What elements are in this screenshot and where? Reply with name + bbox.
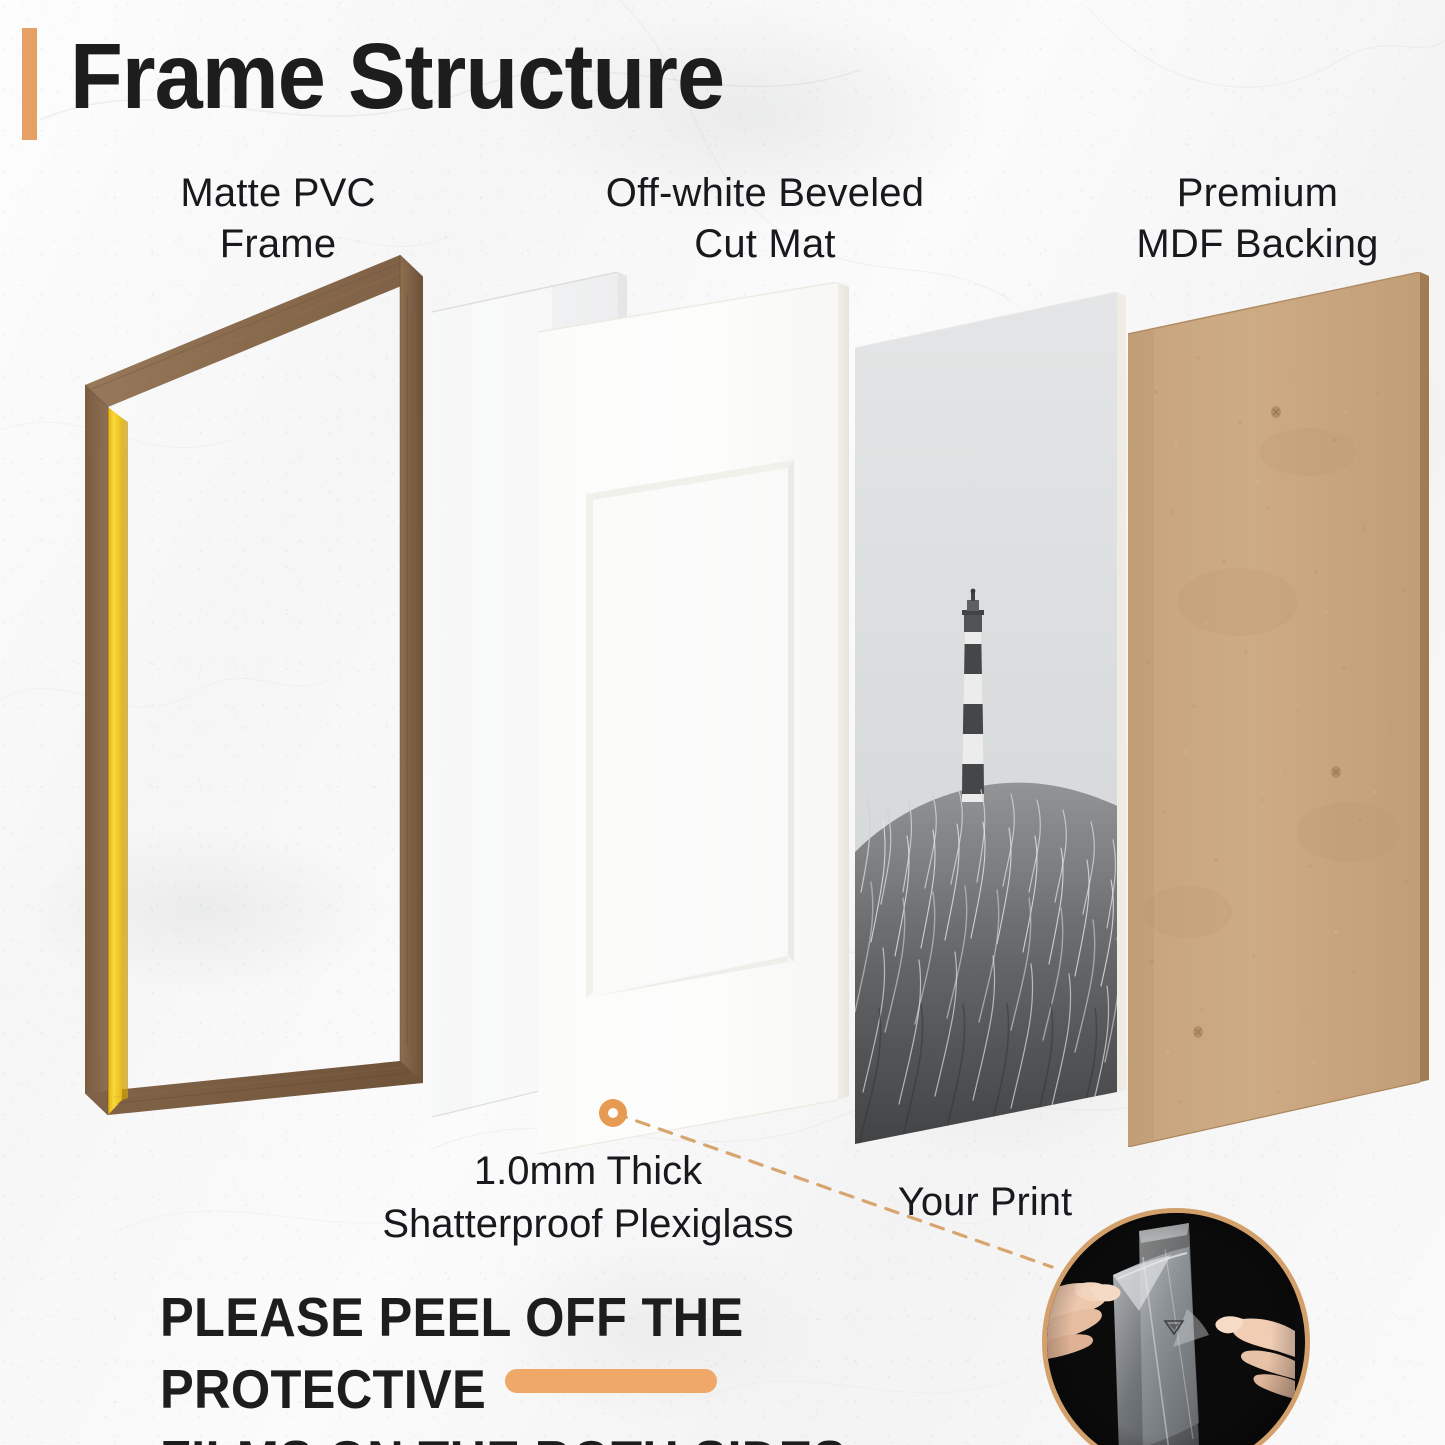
page-title: Frame Structure [70,22,724,132]
callout-leader-line [600,1095,1070,1280]
label-line-1: Off-white Beveled [530,168,1000,219]
your-print-layer [855,292,1130,1144]
matte-pvc-frame-layer [78,255,423,1160]
label-line-1: Premium [1080,168,1435,219]
beveled-cut-mat-layer [538,282,858,1154]
label-mdf-backing: Premium MDF Backing [1080,168,1435,270]
label-line-1: Matte PVC [118,168,438,219]
premium-mdf-backing-layer [1128,272,1433,1147]
label-cut-mat: Off-white Beveled Cut Mat [530,168,1000,270]
label-line-2: MDF Backing [1080,219,1435,270]
title-accent-bar [22,28,37,140]
infographic-canvas: Frame Structure Matte PVC Frame Off-whit… [0,0,1445,1445]
callout-line-1: PLEASE PEEL OFF THE PROTECTIVE [160,1282,970,1425]
peel-film-callout: PLEASE PEEL OFF THE PROTECTIVE FILMS ON … [160,1282,970,1445]
label-line-2: Cut Mat [530,219,1000,270]
callout-marker-dot [599,1099,627,1127]
callout-line-2: FILMS ON THE BOTH SIDES [160,1425,970,1445]
